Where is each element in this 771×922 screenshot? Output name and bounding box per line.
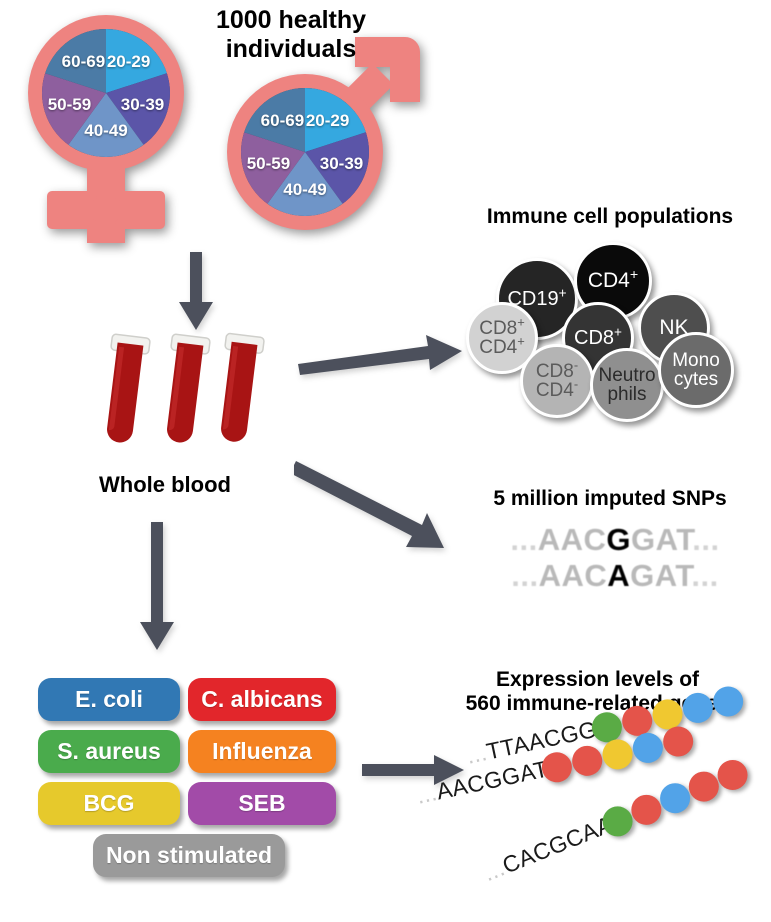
pie-label-20-29: 20-29 <box>306 111 349 131</box>
pie-label-60-69: 60-69 <box>261 111 304 131</box>
arrow-cohort-to-blood <box>172 252 220 332</box>
blood-tubes-icon <box>100 330 275 465</box>
stimulus-box[interactable]: S. aureus <box>38 730 180 773</box>
stimulus-box[interactable]: Non stimulated <box>93 834 285 877</box>
immune-section-title: Immune cell populations <box>450 205 770 229</box>
pie-label-40-49: 40-49 <box>283 180 326 200</box>
pie-label-20-29: 20-29 <box>107 52 150 72</box>
pie-label-30-39: 30-39 <box>121 95 164 115</box>
snp-variant-base: A <box>607 558 630 593</box>
arrow-blood-to-stimuli <box>133 522 181 652</box>
pie-label-50-59: 50-59 <box>247 154 290 174</box>
pie-label-30-39: 30-39 <box>320 154 363 174</box>
snp-sequences: ...AACGGAT......AACAGAT... <box>470 522 760 594</box>
immune-cell-bubbles: CD19+CD4+NKCD8+CD8+CD4+CD8-CD4-Neutrophi… <box>462 240 771 430</box>
immune-cell-bubble: CD8-CD4- <box>520 344 594 418</box>
page-title-cohort: 1000 healthy individuals <box>176 6 406 64</box>
snp-section-title: 5 million imputed SNPs <box>450 487 770 511</box>
snp-sequence-row: ...AACGGAT... <box>470 522 760 558</box>
snp-variant-base: G <box>606 522 631 557</box>
pie-label-50-59: 50-59 <box>48 95 91 115</box>
stimulus-box[interactable]: BCG <box>38 782 180 825</box>
arrow-blood-to-immune <box>296 322 466 382</box>
stimulus-box[interactable]: C. albicans <box>188 678 336 721</box>
snp-sequence-row: ...AACAGAT... <box>470 558 760 594</box>
pie-label-60-69: 60-69 <box>62 52 105 72</box>
whole-blood-label: Whole blood <box>60 472 270 497</box>
gene-strand-sequence: ...CACGCAA <box>480 811 617 887</box>
stimulus-box[interactable]: E. coli <box>38 678 180 721</box>
stimulus-box[interactable]: SEB <box>188 782 336 825</box>
gene-expression-strands: ...TTAACGG...AACGGAT...CACGCAA <box>455 725 771 910</box>
pie-label-40-49: 40-49 <box>84 121 127 141</box>
gene-bead <box>569 743 605 779</box>
immune-cell-bubble: Neutrophils <box>590 348 664 422</box>
arrow-blood-to-snps <box>294 455 464 560</box>
immune-cell-bubble: Monocytes <box>658 332 734 408</box>
stimulus-box[interactable]: Influenza <box>188 730 336 773</box>
